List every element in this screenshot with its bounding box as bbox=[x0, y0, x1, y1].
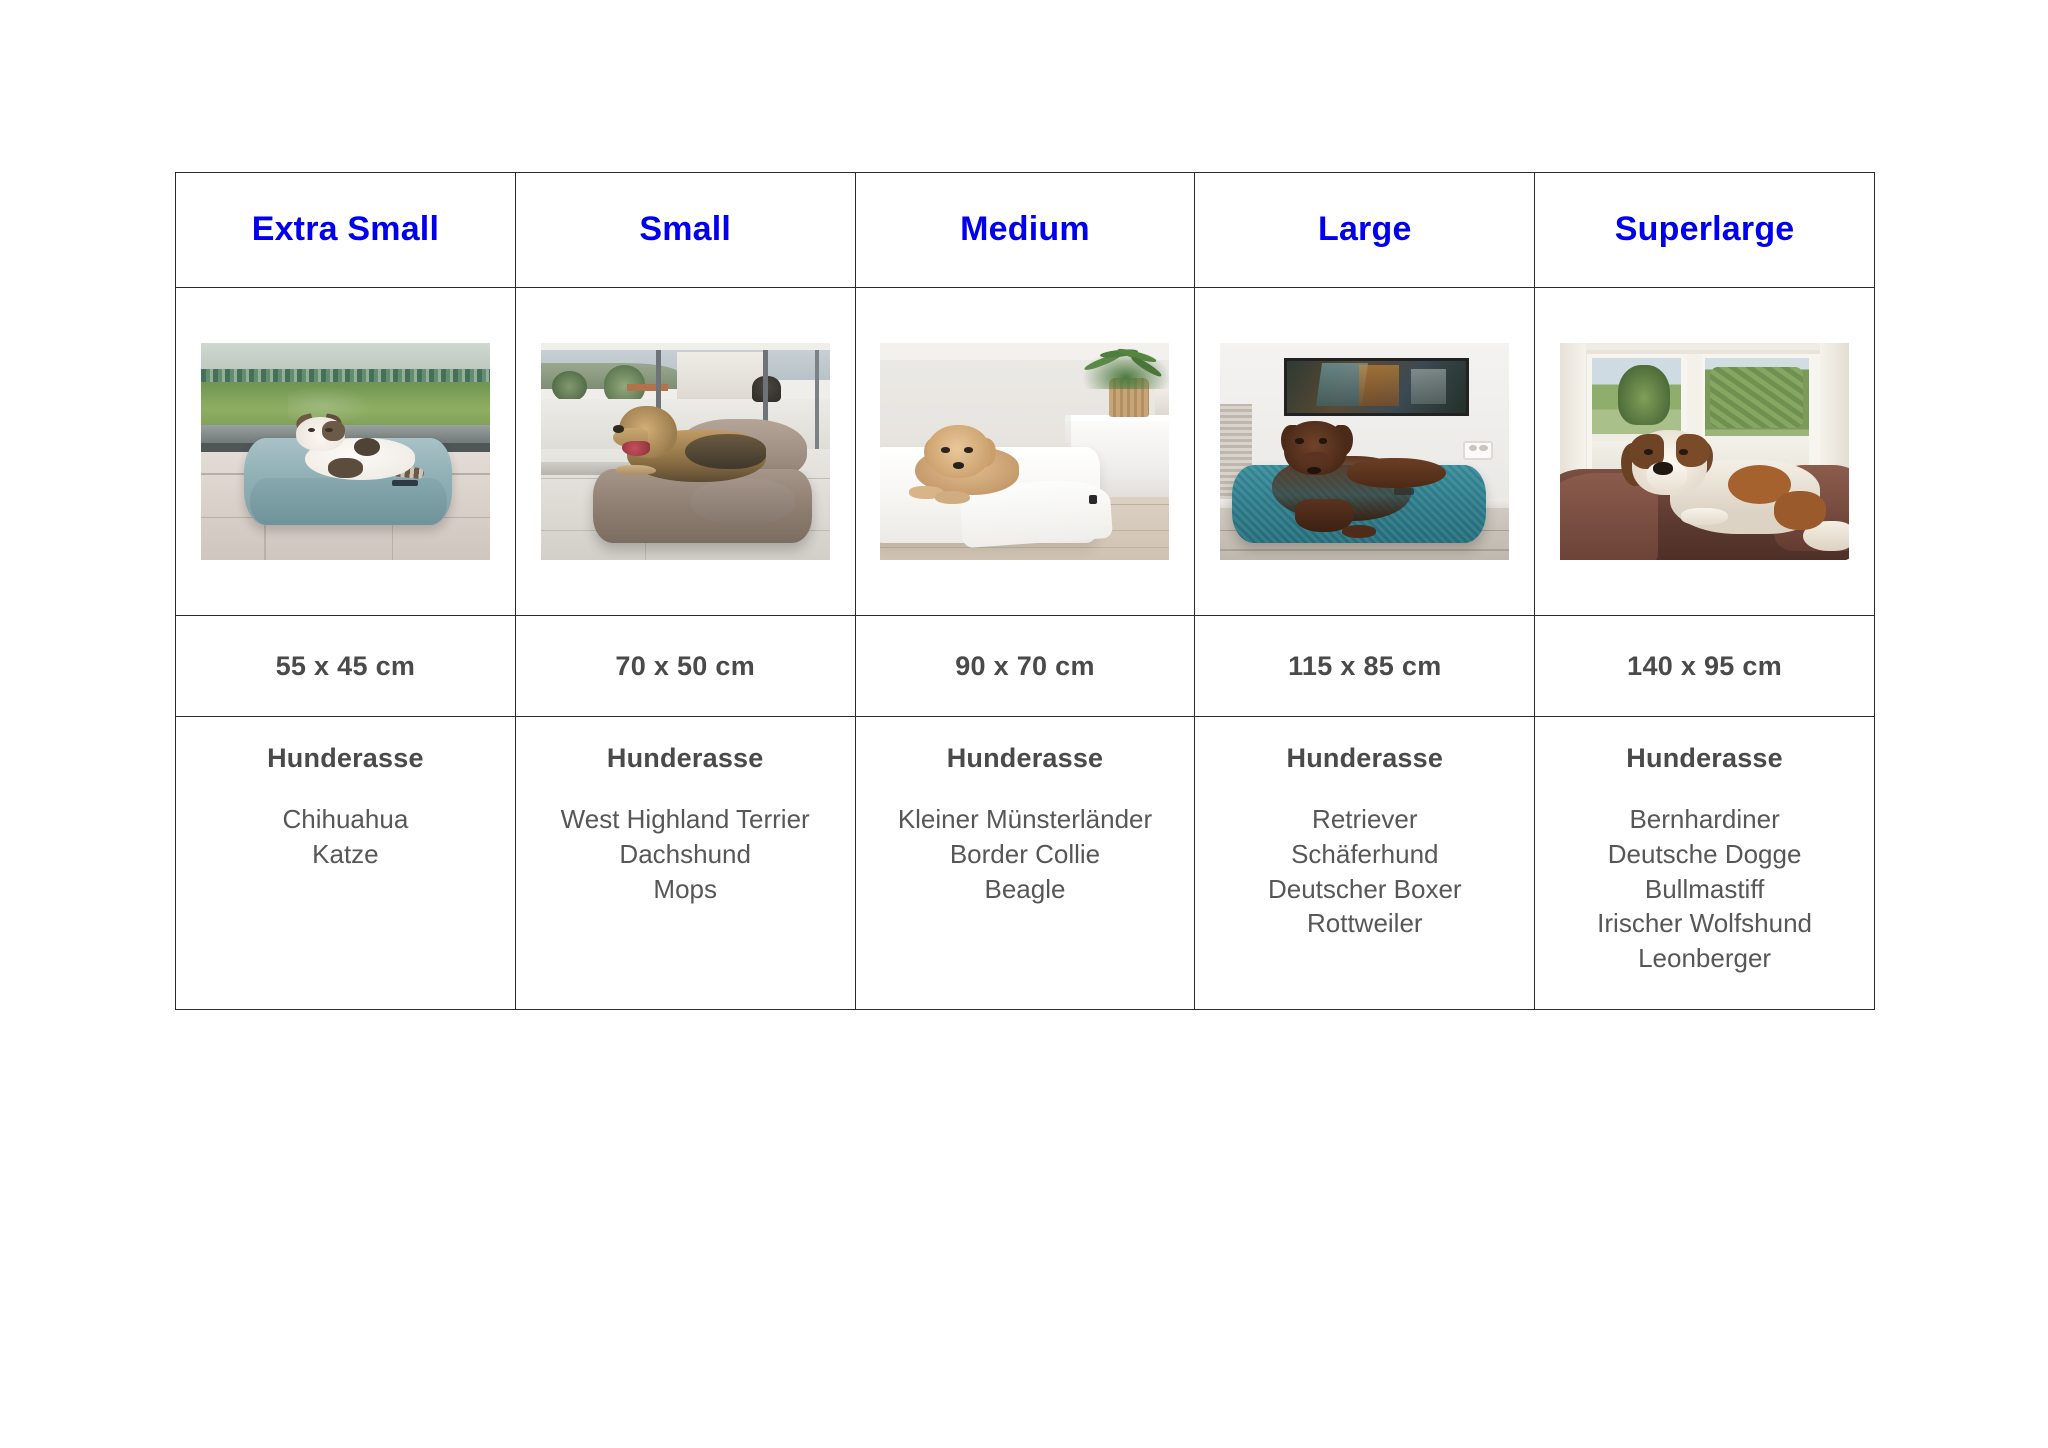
size-header-label: Large bbox=[1195, 211, 1534, 248]
list-item: Beagle bbox=[856, 872, 1195, 907]
size-header-label: Medium bbox=[856, 211, 1195, 248]
header-cell-large: Large bbox=[1195, 173, 1535, 288]
breed-content: Hunderasse Retriever Schäferhund Deutsch… bbox=[1195, 717, 1534, 941]
breed-title: Hunderasse bbox=[856, 743, 1195, 774]
photo-cell-medium bbox=[855, 288, 1195, 616]
photo-wrapper bbox=[1195, 288, 1534, 615]
photo-wrapper bbox=[176, 288, 515, 615]
list-item: Retriever bbox=[1195, 802, 1534, 837]
header-cell-small: Small bbox=[515, 173, 855, 288]
photo-cell-extra-small bbox=[176, 288, 516, 616]
photo-wrapper bbox=[1535, 288, 1874, 615]
header-cell-medium: Medium bbox=[855, 173, 1195, 288]
header-cell-superlarge: Superlarge bbox=[1535, 173, 1875, 288]
breed-title: Hunderasse bbox=[1535, 743, 1874, 774]
size-header-label: Superlarge bbox=[1535, 211, 1874, 248]
list-item: Katze bbox=[176, 837, 515, 872]
product-photo-superlarge bbox=[1560, 343, 1849, 560]
list-item: West Highland Terrier bbox=[516, 802, 855, 837]
breed-content: Hunderasse Kleiner Münsterländer Border … bbox=[856, 717, 1195, 906]
table-dimensions-row: 55 x 45 cm 70 x 50 cm 90 x 70 cm 115 x 8… bbox=[176, 616, 1875, 717]
breed-cell-superlarge: Hunderasse Bernhardiner Deutsche Dogge B… bbox=[1535, 717, 1875, 1010]
dimensions-label: 70 x 50 cm bbox=[516, 651, 855, 682]
document-page: Extra Small Small Medium Large Superlarg… bbox=[0, 0, 2048, 1448]
breed-cell-extra-small: Hunderasse Chihuahua Katze bbox=[176, 717, 516, 1010]
breed-cell-medium: Hunderasse Kleiner Münsterländer Border … bbox=[855, 717, 1195, 1010]
photo-wrapper bbox=[516, 288, 855, 615]
header-cell-extra-small: Extra Small bbox=[176, 173, 516, 288]
breed-content: Hunderasse Bernhardiner Deutsche Dogge B… bbox=[1535, 717, 1874, 976]
breed-title: Hunderasse bbox=[516, 743, 855, 774]
dimensions-cell-large: 115 x 85 cm bbox=[1195, 616, 1535, 717]
breed-content: Hunderasse Chihuahua Katze bbox=[176, 717, 515, 872]
product-photo-small bbox=[541, 343, 830, 560]
breed-list: Retriever Schäferhund Deutscher Boxer Ro… bbox=[1195, 802, 1534, 941]
photo-wrapper bbox=[856, 288, 1195, 615]
table-header-row: Extra Small Small Medium Large Superlarg… bbox=[176, 173, 1875, 288]
breed-list: West Highland Terrier Dachshund Mops bbox=[516, 802, 855, 906]
list-item: Bullmastiff bbox=[1535, 872, 1874, 907]
table-breed-row: Hunderasse Chihuahua Katze Hunderasse We… bbox=[176, 717, 1875, 1010]
list-item: Leonberger bbox=[1535, 941, 1874, 976]
product-photo-large bbox=[1220, 343, 1509, 560]
list-item: Bernhardiner bbox=[1535, 802, 1874, 837]
breed-title: Hunderasse bbox=[176, 743, 515, 774]
list-item: Deutsche Dogge bbox=[1535, 837, 1874, 872]
dog-bed-size-table: Extra Small Small Medium Large Superlarg… bbox=[175, 172, 1875, 1010]
breed-list: Chihuahua Katze bbox=[176, 802, 515, 872]
dimensions-label: 90 x 70 cm bbox=[856, 651, 1195, 682]
list-item: Chihuahua bbox=[176, 802, 515, 837]
breed-cell-large: Hunderasse Retriever Schäferhund Deutsch… bbox=[1195, 717, 1535, 1010]
dimensions-cell-extra-small: 55 x 45 cm bbox=[176, 616, 516, 717]
photo-cell-large bbox=[1195, 288, 1535, 616]
breed-list: Kleiner Münsterländer Border Collie Beag… bbox=[856, 802, 1195, 906]
product-photo-extra-small bbox=[201, 343, 490, 560]
size-header-label: Extra Small bbox=[176, 211, 515, 248]
breed-list: Bernhardiner Deutsche Dogge Bullmastiff … bbox=[1535, 802, 1874, 976]
breed-title: Hunderasse bbox=[1195, 743, 1534, 774]
product-photo-medium bbox=[880, 343, 1169, 560]
photo-cell-small bbox=[515, 288, 855, 616]
dimensions-cell-medium: 90 x 70 cm bbox=[855, 616, 1195, 717]
list-item: Deutscher Boxer bbox=[1195, 872, 1534, 907]
dimensions-label: 115 x 85 cm bbox=[1195, 651, 1534, 682]
list-item: Mops bbox=[516, 872, 855, 907]
list-item: Border Collie bbox=[856, 837, 1195, 872]
size-header-label: Small bbox=[516, 211, 855, 248]
list-item: Dachshund bbox=[516, 837, 855, 872]
list-item: Kleiner Münsterländer bbox=[856, 802, 1195, 837]
breed-cell-small: Hunderasse West Highland Terrier Dachshu… bbox=[515, 717, 855, 1010]
breed-content: Hunderasse West Highland Terrier Dachshu… bbox=[516, 717, 855, 906]
dimensions-label: 55 x 45 cm bbox=[176, 651, 515, 682]
list-item: Irischer Wolfshund bbox=[1535, 906, 1874, 941]
dimensions-cell-superlarge: 140 x 95 cm bbox=[1535, 616, 1875, 717]
list-item: Schäferhund bbox=[1195, 837, 1534, 872]
dimensions-cell-small: 70 x 50 cm bbox=[515, 616, 855, 717]
photo-cell-superlarge bbox=[1535, 288, 1875, 616]
dimensions-label: 140 x 95 cm bbox=[1535, 651, 1874, 682]
list-item: Rottweiler bbox=[1195, 906, 1534, 941]
table-photo-row bbox=[176, 288, 1875, 616]
